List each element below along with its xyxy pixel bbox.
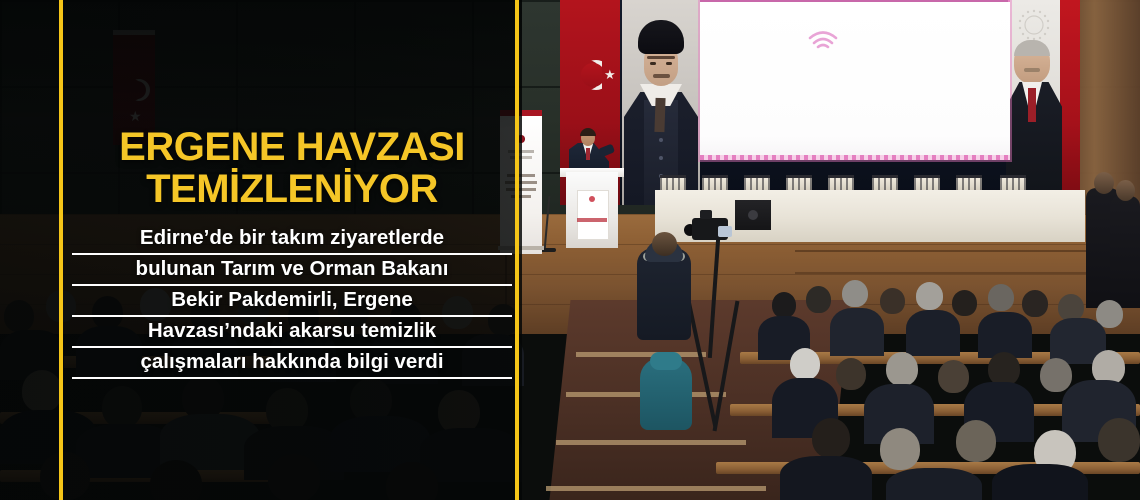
top-gradient-scrim xyxy=(0,0,522,130)
screen-bottom-edge xyxy=(700,155,1010,160)
audience-head xyxy=(952,290,977,316)
audience-head xyxy=(938,360,969,393)
subtitle: Edirne’de bir takım ziyaretlerde bulunan… xyxy=(72,224,512,379)
audience-head xyxy=(842,280,868,307)
camera-mic xyxy=(700,210,712,219)
ataturk-eye xyxy=(650,62,656,65)
podium-emblem xyxy=(589,196,595,202)
accent-rule-right xyxy=(515,0,519,500)
presidential-seal-icon xyxy=(1012,6,1056,44)
ataturk-kalpak-hat xyxy=(638,20,684,54)
standing-person-head xyxy=(1116,180,1135,201)
standing-person-head xyxy=(1094,172,1114,194)
ataturk-moustache xyxy=(653,74,670,78)
subtitle-line-3: Bekir Pakdemirli, Ergene xyxy=(72,286,512,317)
audience-head xyxy=(1040,358,1072,392)
audience-head xyxy=(790,348,820,380)
audience-head xyxy=(812,418,850,458)
audience-head xyxy=(880,428,920,470)
cameraman-head xyxy=(652,232,677,256)
seated-person-hood xyxy=(650,352,682,370)
wifi-arc-logo-icon xyxy=(805,24,841,50)
subtitle-line-2: bulunan Tarım ve Orman Bakanı xyxy=(72,255,512,286)
aisle-step-edge xyxy=(546,486,766,491)
audience-head xyxy=(988,352,1020,386)
subtitle-line-4: Havzası’ndaki akarsu temizlik xyxy=(72,317,512,348)
camera-lcd-screen xyxy=(718,226,732,237)
wood-seam xyxy=(795,272,1135,274)
audience-head xyxy=(916,282,943,310)
accent-rule-left xyxy=(59,0,63,500)
audience-shoulders xyxy=(906,310,960,356)
audience-shoulders xyxy=(886,468,982,500)
subtitle-line-1: Edirne’de bir takım ziyaretlerde xyxy=(72,224,512,255)
erdogan-moustache xyxy=(1024,68,1040,72)
subtitle-line-5: çalışmaları hakkında bilgi verdi xyxy=(72,348,512,379)
audience-shoulders xyxy=(992,464,1088,500)
aisle-step-edge xyxy=(576,352,706,357)
podium-stripe xyxy=(577,218,607,222)
projection-screen xyxy=(700,2,1010,160)
audience-head xyxy=(880,288,905,314)
headline-line-1: ERGENE HAVZASI xyxy=(72,126,512,168)
audience-head xyxy=(772,292,796,318)
ataturk-button xyxy=(659,156,663,160)
audience-head xyxy=(836,358,866,390)
audience-head xyxy=(1022,290,1048,317)
headline-line-2: TEMİZLENİYOR xyxy=(72,168,512,210)
audience-head xyxy=(1098,418,1140,462)
backdrop-crescent-icon xyxy=(572,60,602,90)
ataturk-eye xyxy=(666,62,672,65)
speaker-cone xyxy=(748,210,758,220)
aisle-step-edge xyxy=(556,440,746,445)
caption-block: ERGENE HAVZASI TEMİZLENİYOR Edirne’de bi… xyxy=(72,126,512,379)
audience-head xyxy=(956,420,996,462)
audience-shoulders xyxy=(780,456,872,500)
audience-head xyxy=(988,284,1014,311)
audience-head xyxy=(886,352,918,386)
ataturk-brow xyxy=(647,56,675,59)
speaker-tie xyxy=(586,148,590,160)
standing-person xyxy=(1110,196,1140,308)
wood-seam xyxy=(795,250,1135,252)
ataturk-tie xyxy=(654,98,665,132)
ataturk-button xyxy=(659,138,663,142)
audience-shoulders xyxy=(830,308,884,356)
audience-head xyxy=(806,286,831,313)
headline: ERGENE HAVZASI TEMİZLENİYOR xyxy=(72,126,512,210)
audience-head xyxy=(1058,294,1084,321)
news-banner-image: ★ ★ xyxy=(0,0,1140,500)
erdogan-tie xyxy=(1028,88,1036,122)
